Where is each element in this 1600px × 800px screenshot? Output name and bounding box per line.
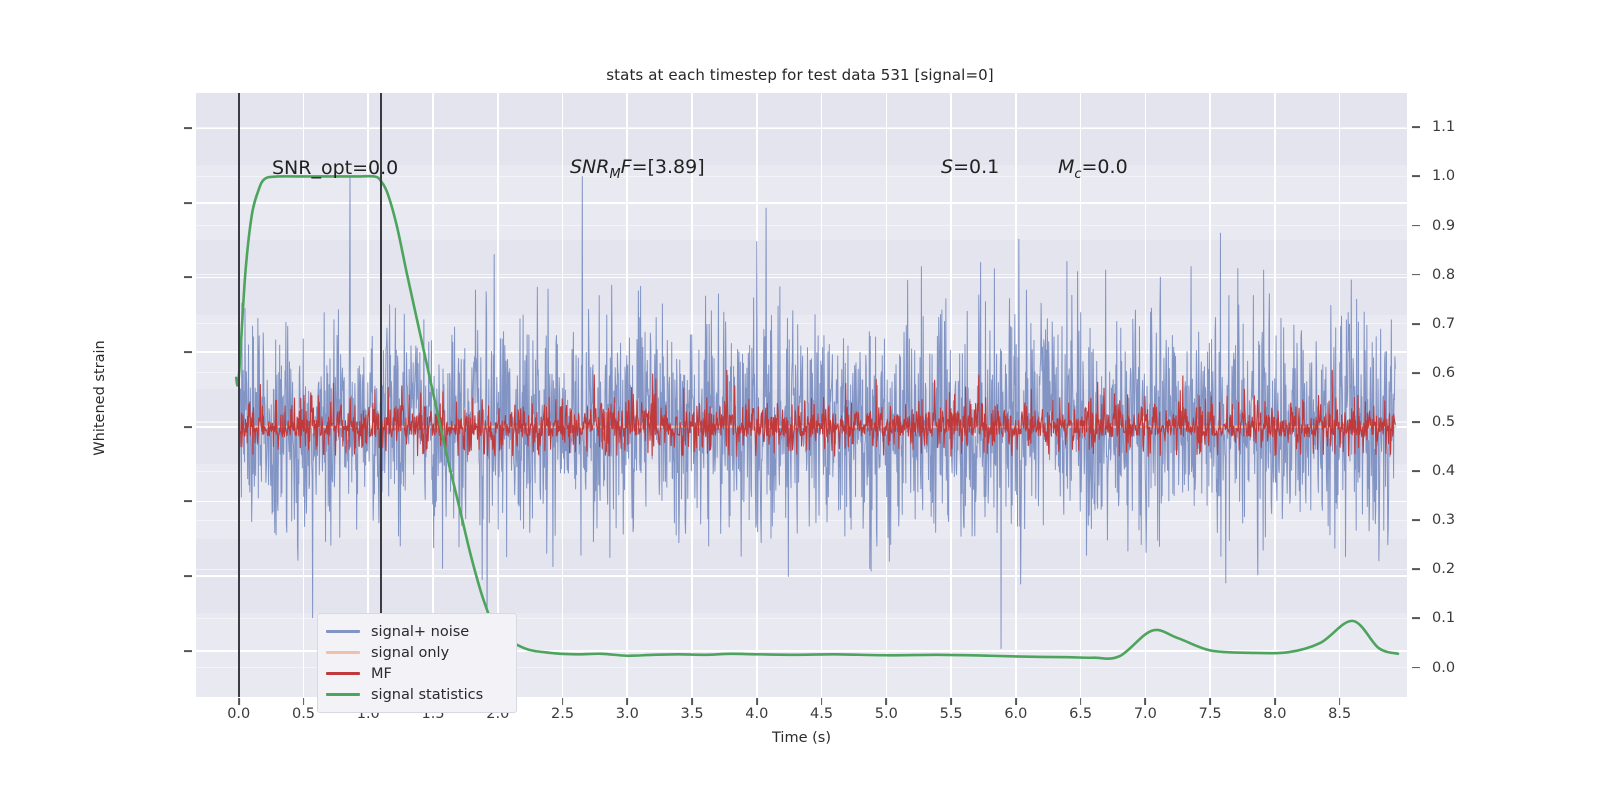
y-axis-left-tick-mark — [184, 351, 192, 353]
annotation-mc-value: Mc=0.0 — [1058, 156, 1128, 182]
annotation-snr-opt: SNR_opt=0.0 — [272, 157, 398, 179]
legend-swatch-icon — [326, 693, 360, 696]
x-axis-tick-mark — [238, 698, 240, 705]
x-axis-tick-label: 5.0 — [875, 706, 898, 722]
x-axis-tick-mark — [1274, 698, 1276, 705]
y-axis-right-tick-mark — [1412, 568, 1420, 570]
vline-start — [238, 93, 240, 697]
x-axis-tick-mark — [691, 698, 693, 705]
y-axis-left-tick-mark — [184, 650, 192, 652]
chart-title: stats at each timestep for test data 531… — [0, 66, 1600, 84]
x-axis-tick-mark — [885, 698, 887, 705]
y-axis-left-tick-mark — [184, 277, 192, 279]
y-axis-right-tick-mark — [1412, 274, 1420, 276]
annotation-s-value: S=0.1 — [941, 156, 999, 178]
x-axis-tick-label: 4.0 — [745, 706, 768, 722]
y-axis-right-tick-mark — [1412, 225, 1420, 227]
x-axis-tick-label: 6.5 — [1069, 706, 1092, 722]
x-axis-tick-label: 3.0 — [616, 706, 639, 722]
y-axis-left-tick-mark — [184, 575, 192, 577]
x-axis-label: Time (s) — [196, 730, 1407, 746]
legend-label: signal only — [371, 645, 449, 661]
y-axis-left-label: Whitened strain — [92, 288, 108, 508]
legend-label: signal statistics — [371, 687, 483, 703]
x-axis-tick-mark — [303, 698, 305, 705]
x-axis-tick-label: 4.5 — [810, 706, 833, 722]
x-axis-tick-mark — [1209, 698, 1211, 705]
x-axis-tick-mark — [1144, 698, 1146, 705]
y-axis-left-tick-mark — [184, 500, 192, 502]
chart-root: stats at each timestep for test data 531… — [0, 0, 1600, 800]
vline-merger — [380, 93, 382, 697]
annotation-snr-mf: SNRMF=[3.89] — [570, 156, 705, 182]
y-axis-right-tick-mark — [1412, 667, 1420, 669]
x-axis-tick-mark — [1015, 698, 1017, 705]
y-axis-right-tick-label: 0.2 — [1432, 561, 1492, 577]
y-axis-right-tick-label: 0.5 — [1432, 414, 1492, 430]
x-axis-tick-label: 0.0 — [227, 706, 250, 722]
y-axis-right-tick-mark — [1412, 421, 1420, 423]
legend-item[interactable]: signal only — [326, 642, 506, 663]
x-axis-tick-label: 6.0 — [1004, 706, 1027, 722]
x-axis-tick-label: 2.5 — [551, 706, 574, 722]
x-axis-tick-label: 0.5 — [292, 706, 315, 722]
legend-label: signal+ noise — [371, 624, 469, 640]
y-axis-right-tick-label: 0.8 — [1432, 267, 1492, 283]
legend-swatch-icon — [326, 672, 360, 675]
x-axis-tick-label: 8.5 — [1328, 706, 1351, 722]
y-axis-right-tick-label: 1.1 — [1432, 119, 1492, 135]
y-axis-right-tick-mark — [1412, 126, 1420, 128]
legend-swatch-icon — [326, 630, 360, 633]
y-axis-right-tick-label: 0.7 — [1432, 316, 1492, 332]
legend-item[interactable]: MF — [326, 663, 506, 684]
x-axis-tick-mark — [756, 698, 758, 705]
x-axis-tick-mark — [626, 698, 628, 705]
x-axis-tick-mark — [1339, 698, 1341, 705]
y-axis-right-tick-mark — [1412, 176, 1420, 178]
y-axis-right-tick-label: 0.9 — [1432, 218, 1492, 234]
y-axis-right-tick-mark — [1412, 470, 1420, 472]
x-axis-tick-label: 8.0 — [1263, 706, 1286, 722]
y-axis-right-tick-label: 1.0 — [1432, 168, 1492, 184]
y-axis-left-tick-mark — [184, 202, 192, 204]
y-axis-right-tick-mark — [1412, 519, 1420, 521]
y-axis-right-tick-label: 0.1 — [1432, 610, 1492, 626]
data-series-layer — [196, 93, 1407, 697]
y-axis-right-tick-label: 0.3 — [1432, 512, 1492, 528]
y-axis-right-tick-mark — [1412, 323, 1420, 325]
x-axis-tick-mark — [950, 698, 952, 705]
y-axis-left-tick-mark — [184, 426, 192, 428]
y-axis-right-tick-label: 0.0 — [1432, 660, 1492, 676]
legend-swatch-icon — [326, 651, 360, 654]
x-axis-tick-mark — [562, 698, 564, 705]
legend-item[interactable]: signal statistics — [326, 684, 506, 705]
x-axis-tick-label: 5.5 — [940, 706, 963, 722]
x-axis-tick-mark — [821, 698, 823, 705]
y-axis-right-tick-mark — [1412, 372, 1420, 374]
legend[interactable]: signal+ noisesignal onlyMFsignal statist… — [317, 613, 517, 713]
legend-label: MF — [371, 666, 392, 682]
y-axis-right-tick-mark — [1412, 618, 1420, 620]
y-axis-left-tick-mark — [184, 127, 192, 129]
legend-item[interactable]: signal+ noise — [326, 621, 506, 642]
plot-area[interactable] — [196, 93, 1407, 697]
x-axis-tick-label: 7.0 — [1134, 706, 1157, 722]
y-axis-right-tick-label: 0.4 — [1432, 463, 1492, 479]
x-axis-tick-label: 3.5 — [681, 706, 704, 722]
y-axis-right-tick-label: 0.6 — [1432, 365, 1492, 381]
x-axis-tick-mark — [1080, 698, 1082, 705]
x-axis-tick-label: 7.5 — [1199, 706, 1222, 722]
